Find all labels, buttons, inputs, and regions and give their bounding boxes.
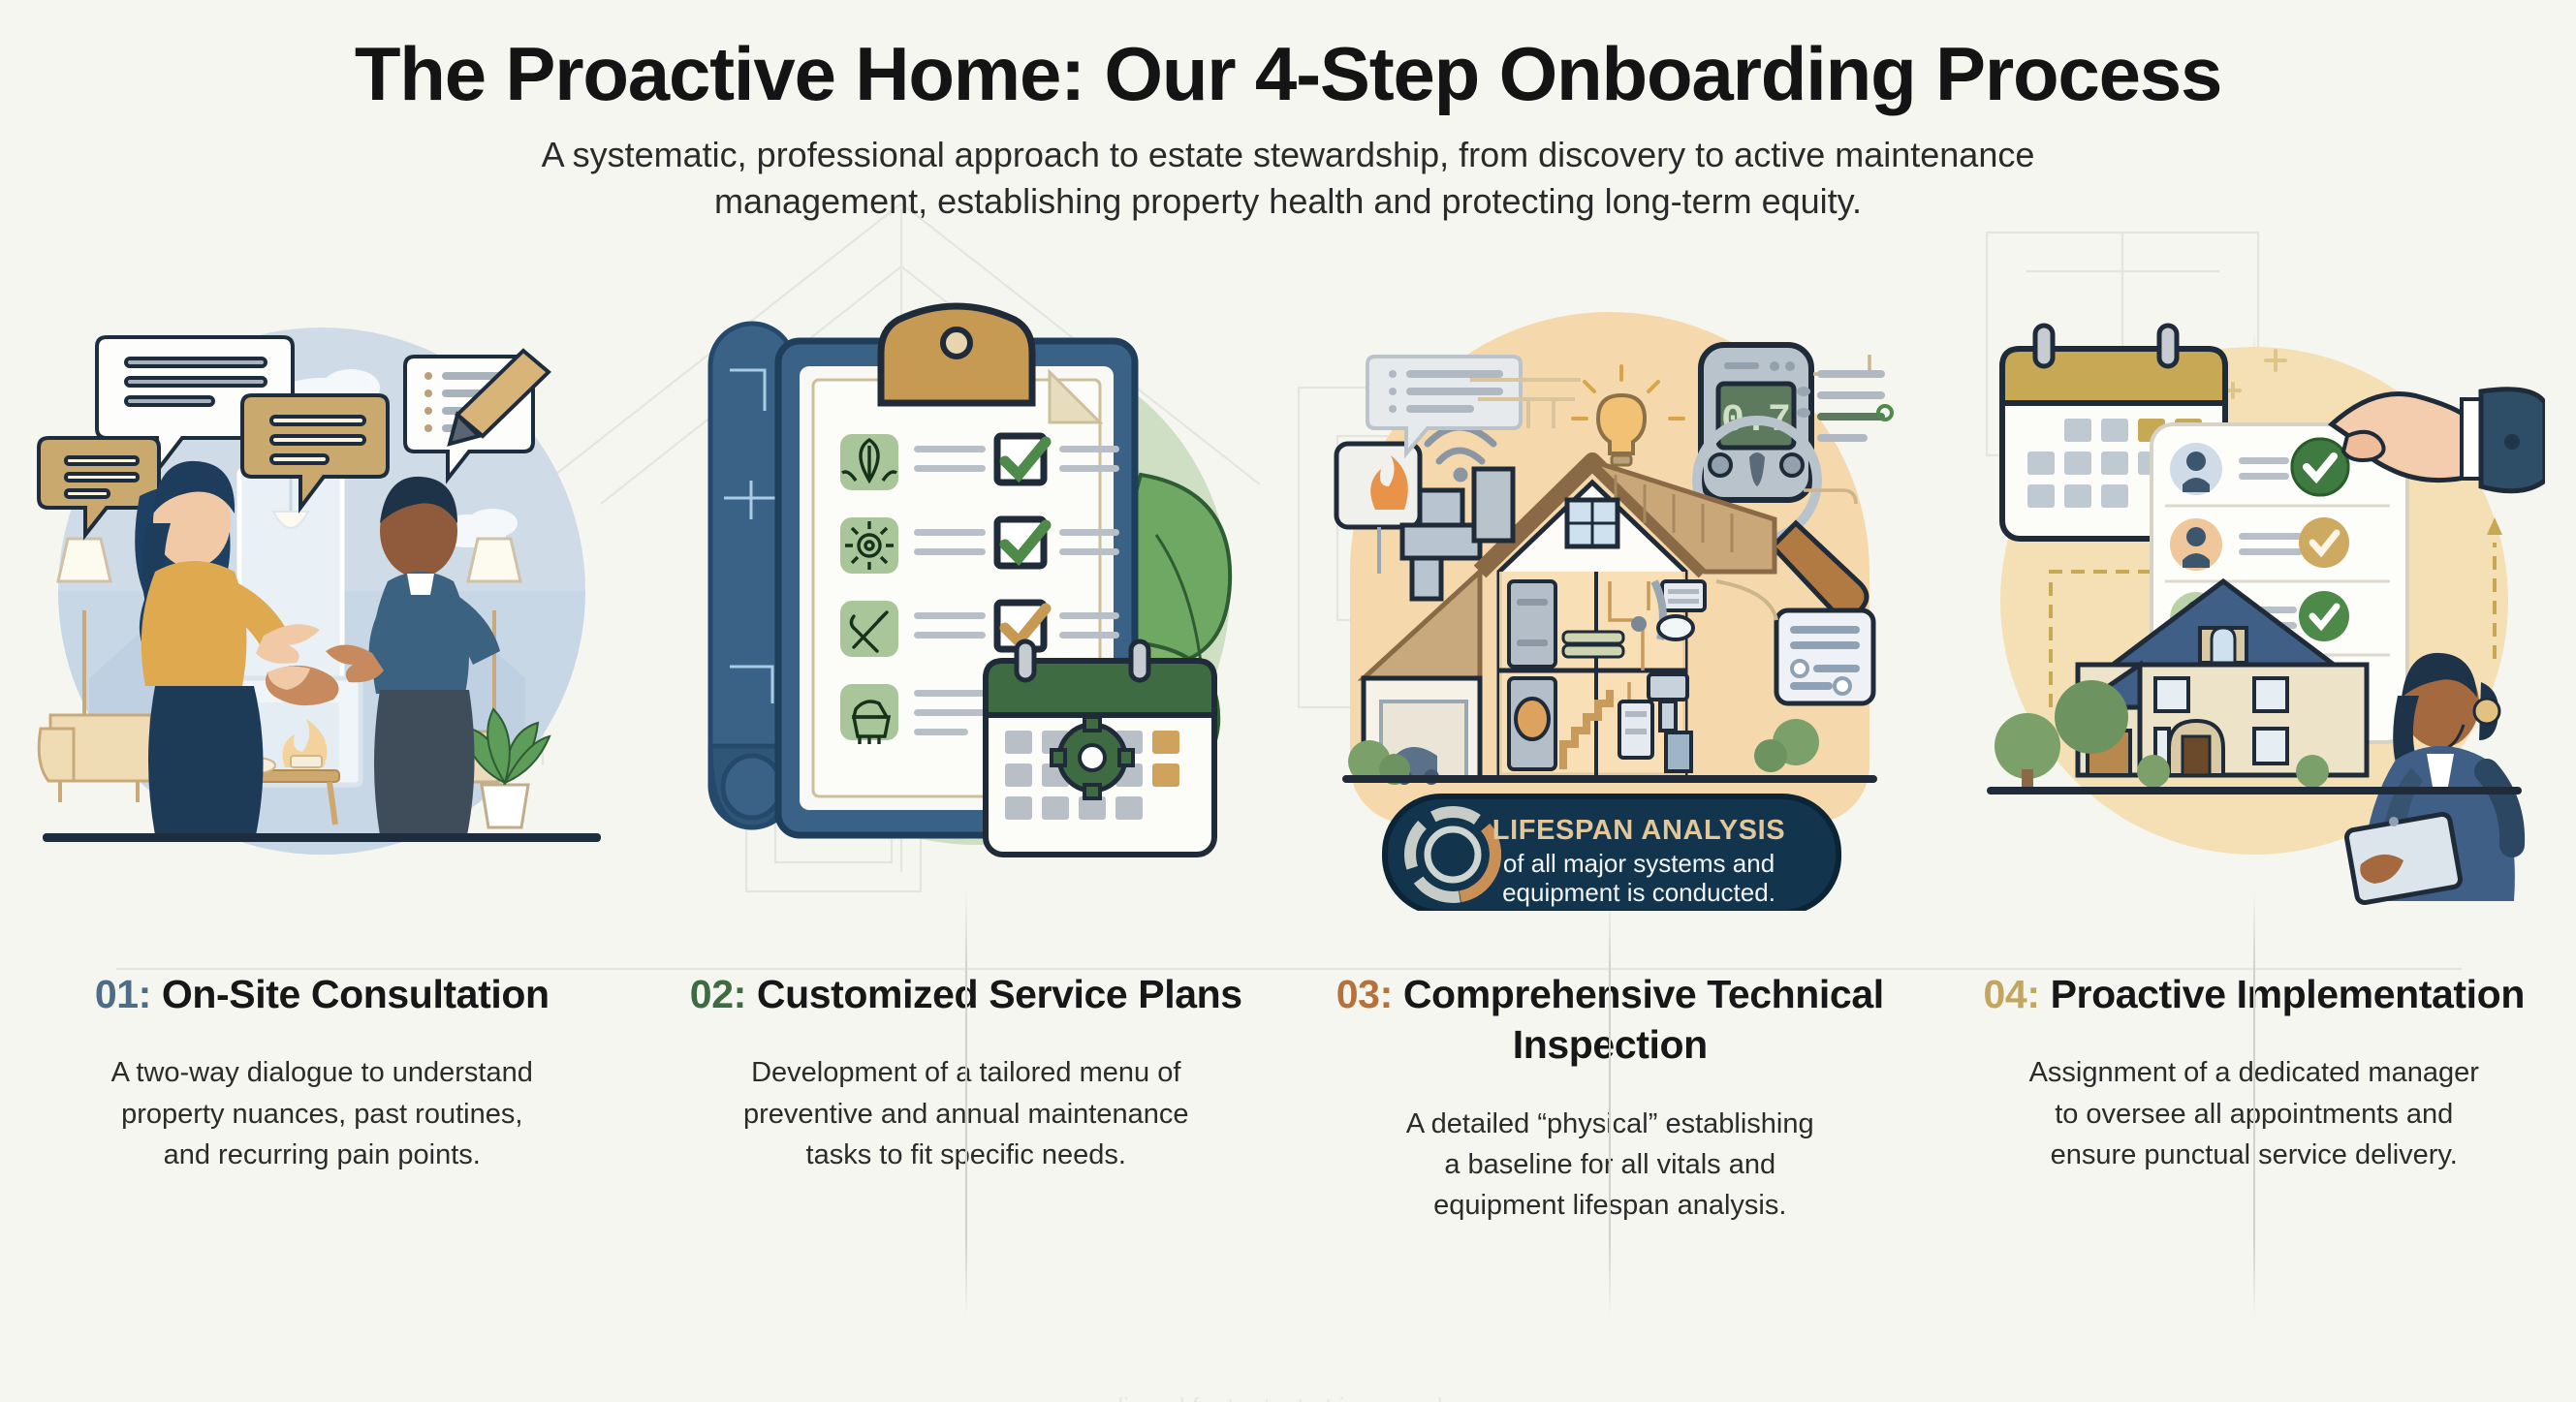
step-1-title-text: On-Site Consultation <box>162 972 550 1016</box>
step-1-desc-line-2: property nuances, past routines, <box>33 1094 612 1135</box>
technical-inspection-house-cutaway-illustration: 0.7 <box>1319 291 1901 911</box>
proactive-implementation-illustration <box>1963 291 2545 911</box>
step-card-2: 02: Customized Service Plans Development… <box>644 291 1289 1356</box>
consultation-handshake-illustration <box>31 291 613 911</box>
step-1-illustration-wrap <box>0 291 644 969</box>
step-card-3: 0.7 <box>1288 291 1932 1356</box>
badge-line-2: equipment is conducted. <box>1502 878 1775 907</box>
badge-line-1: of all major systems and <box>1503 849 1775 878</box>
step-1-description: A two-way dialogue to understand propert… <box>33 1052 612 1174</box>
step-2-number: 02: <box>690 972 746 1016</box>
step-card-4: 04: Proactive Implementation Assignment … <box>1932 291 2576 1356</box>
step-3-title-text: Comprehensive Technical Inspection <box>1403 972 1884 1067</box>
step-2-illustration-wrap <box>644 291 1289 969</box>
lifespan-analysis-badge: LIFESPAN ANALYSIS of all major systems a… <box>1385 794 1838 911</box>
step-card-1: 01: On-Site Consultation A two-way dialo… <box>0 291 644 1356</box>
onboarding-steps-row: 01: On-Site Consultation A two-way dialo… <box>0 291 2576 1356</box>
step-1-caption: 01: On-Site Consultation A two-way dialo… <box>0 969 644 1175</box>
page-title: The Proactive Home: Our 4-Step Onboardin… <box>0 33 2576 114</box>
step-1-number: 01: <box>95 972 151 1016</box>
step-3-illustration-wrap: 0.7 <box>1288 291 1932 969</box>
clipped-footer-text: clipped footer text at image edge <box>0 1392 2576 1402</box>
step-3-number: 03: <box>1336 972 1393 1016</box>
subtitle-line-1: A systematic, professional approach to e… <box>338 132 2238 178</box>
step-1-desc-line-1: A two-way dialogue to understand <box>33 1052 612 1093</box>
subtitle-line-2: management, establishing property health… <box>338 178 2238 225</box>
step-4-illustration-wrap <box>1932 291 2576 969</box>
step-2-title-text: Customized Service Plans <box>757 972 1242 1016</box>
step-4-title-text: Proactive Implementation <box>2051 972 2525 1016</box>
infographic-header: The Proactive Home: Our 4-Step Onboardin… <box>0 0 2576 224</box>
step-1-desc-line-3: and recurring pain points. <box>33 1135 612 1175</box>
step-1-title: 01: On-Site Consultation <box>33 969 612 1019</box>
service-plan-clipboard-illustration <box>685 291 1247 911</box>
badge-title: LIFESPAN ANALYSIS <box>1492 815 1785 846</box>
step-4-number: 04: <box>1984 972 2040 1016</box>
page-subtitle: A systematic, professional approach to e… <box>338 132 2238 224</box>
